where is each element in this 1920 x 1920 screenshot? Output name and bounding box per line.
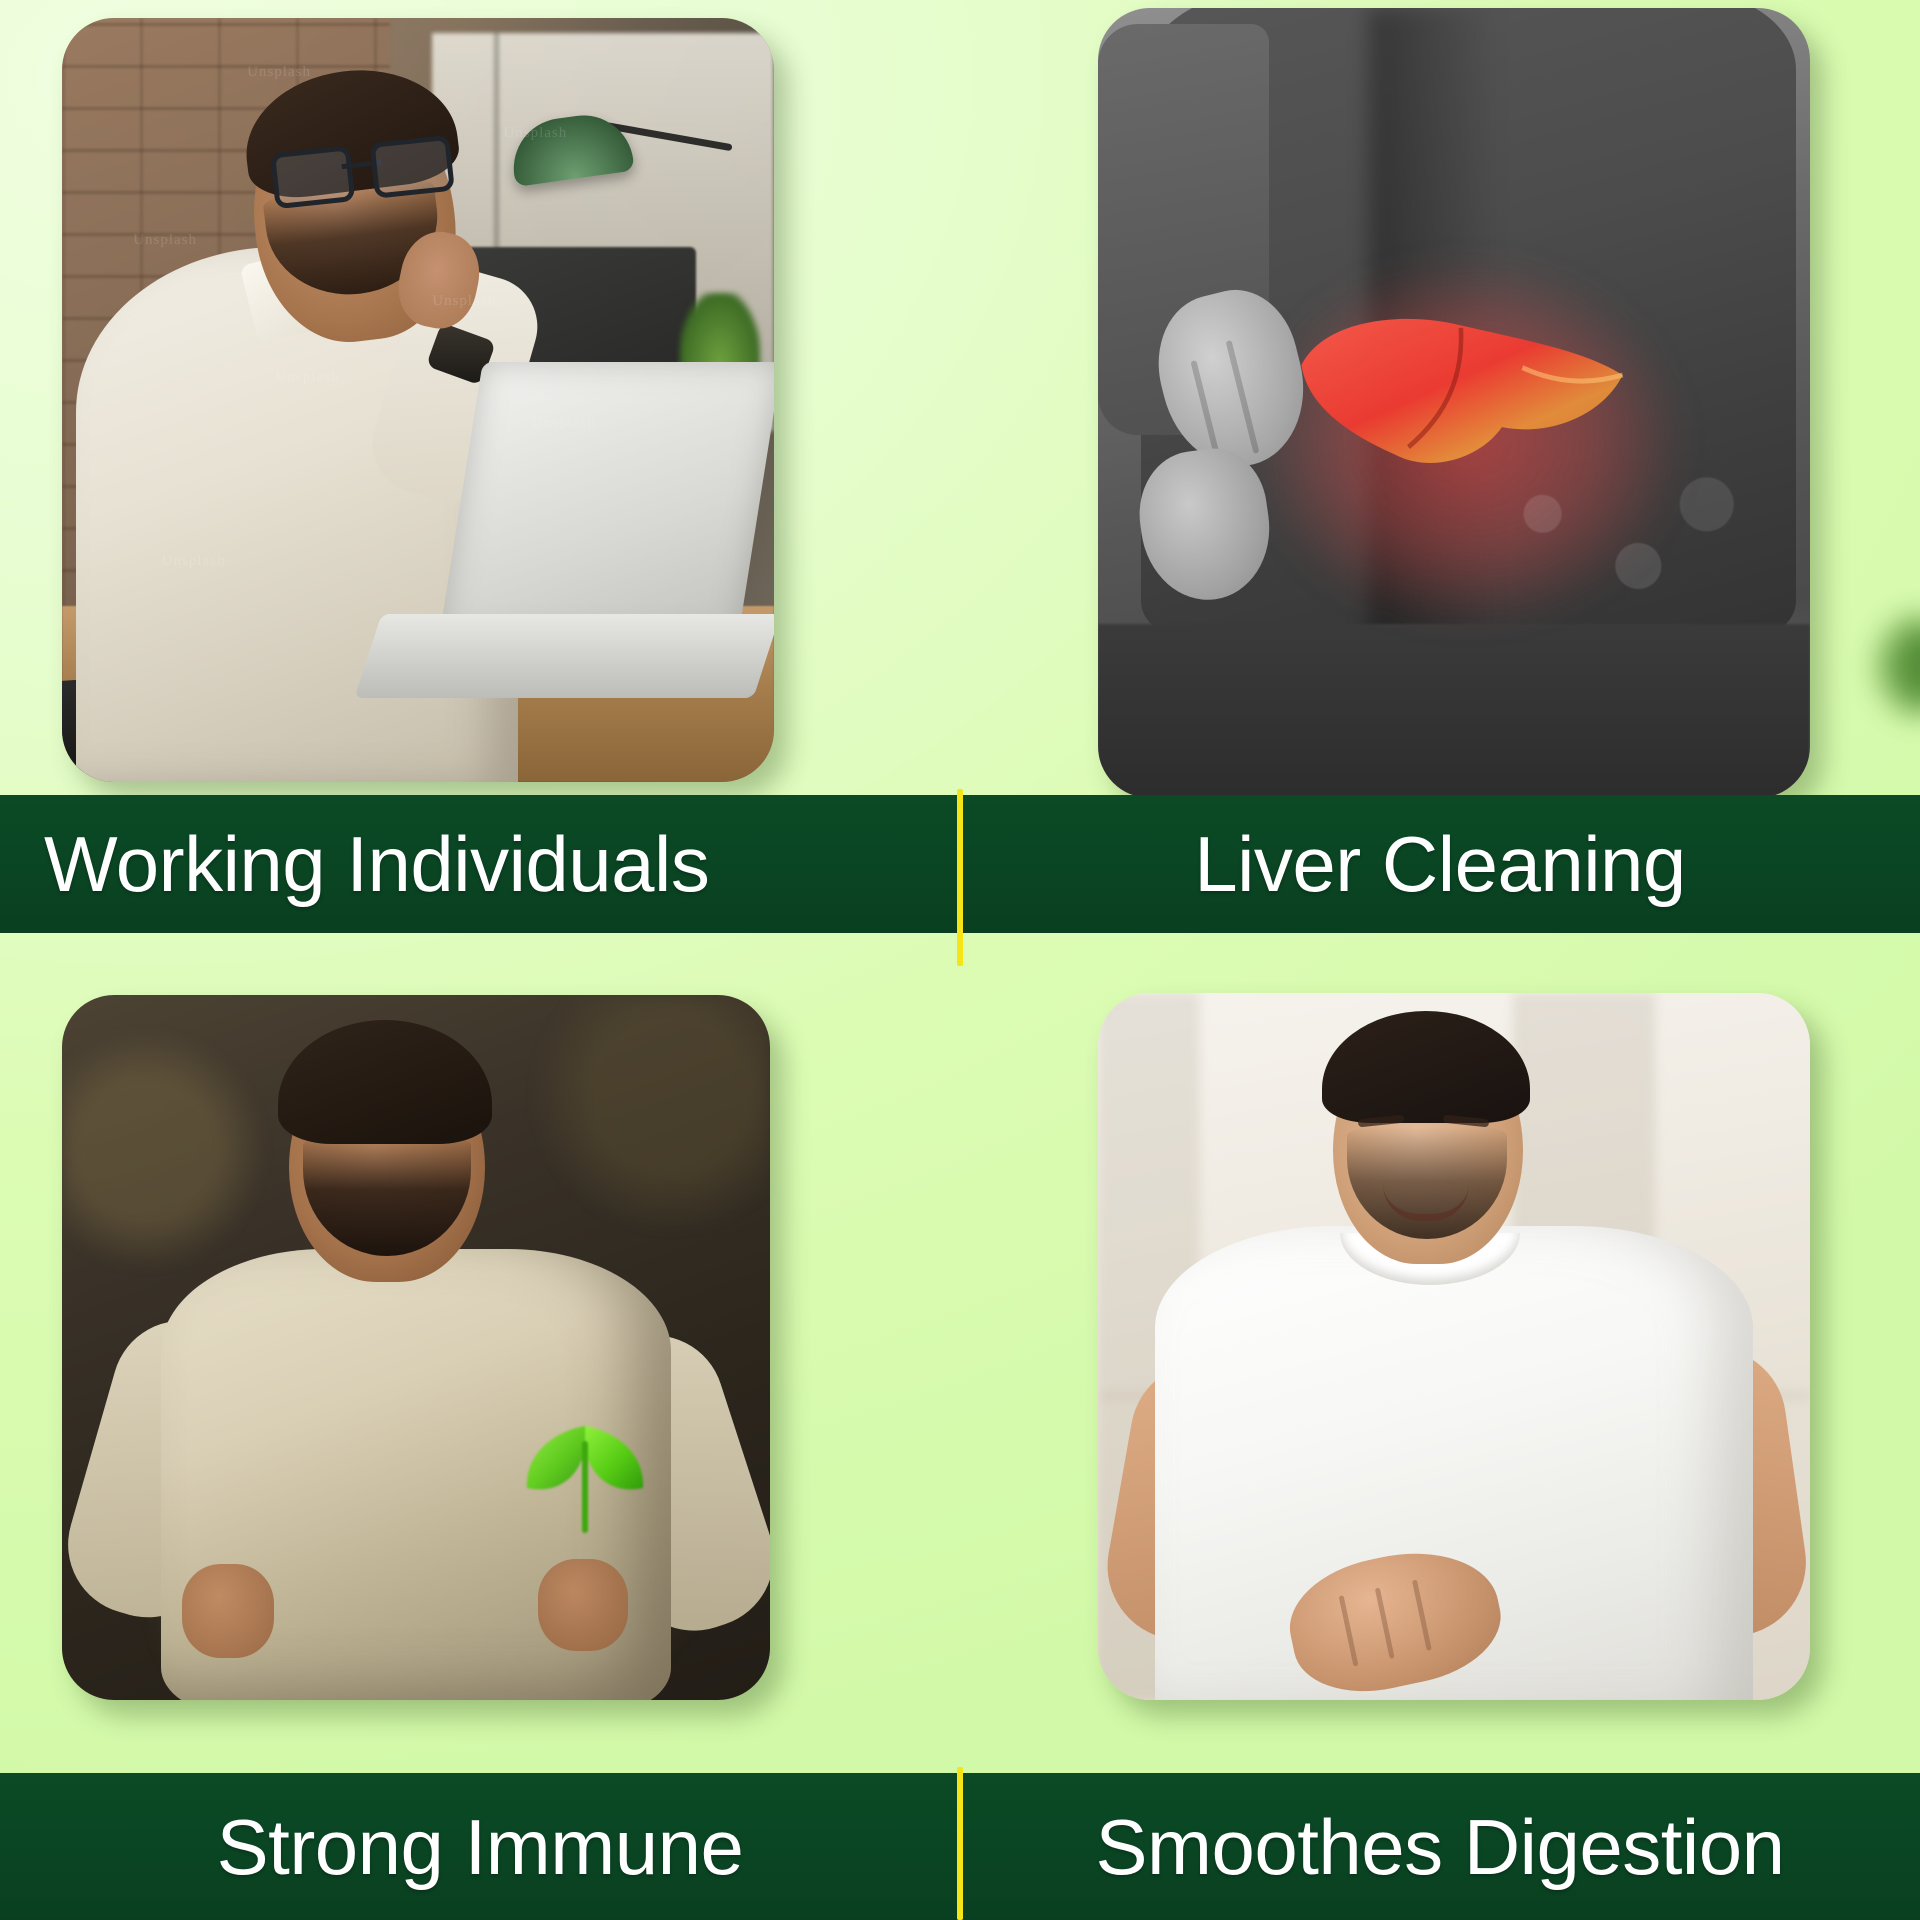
caption-working-individuals: Working Individuals [44,825,709,903]
photo-strong-immune [62,995,770,1700]
image-card-working-individuals[interactable]: Unsplash Unsplash Unsplash Unsplash Unsp… [62,18,774,782]
benefits-grid-poster: Unsplash Unsplash Unsplash Unsplash Unsp… [0,0,1920,1920]
edge-decoration-blob [1866,612,1920,720]
caption-liver-cleaning: Liver Cleaning [1194,825,1686,903]
person-fist-right [538,1559,628,1651]
caption-cell-working-individuals: Working Individuals [0,795,960,933]
photo-liver-cleaning [1098,8,1810,798]
caption-cell-liver-cleaning: Liver Cleaning [960,795,1920,933]
leaf-icon [515,1418,655,1538]
caption-smoothes-digestion: Smoothes Digestion [1095,1808,1784,1886]
vertical-divider-bottom [957,1767,963,1920]
image-card-strong-immune[interactable] [62,995,770,1700]
image-card-smoothes-digestion[interactable] [1098,993,1810,1700]
photo-smoothes-digestion [1098,993,1810,1700]
liver-organ-icon [1290,308,1632,482]
caption-cell-smoothes-digestion: Smoothes Digestion [960,1773,1920,1920]
caption-cell-strong-immune: Strong Immune [0,1773,960,1920]
laptop-screen [439,362,774,637]
image-card-liver-cleaning[interactable] [1098,8,1810,798]
laptop-keyboard [355,614,774,698]
person-fist-left [182,1564,274,1658]
caption-strong-immune: Strong Immune [217,1808,744,1886]
vertical-divider-top [957,789,963,966]
photo-working-individuals: Unsplash Unsplash Unsplash Unsplash Unsp… [62,18,774,782]
